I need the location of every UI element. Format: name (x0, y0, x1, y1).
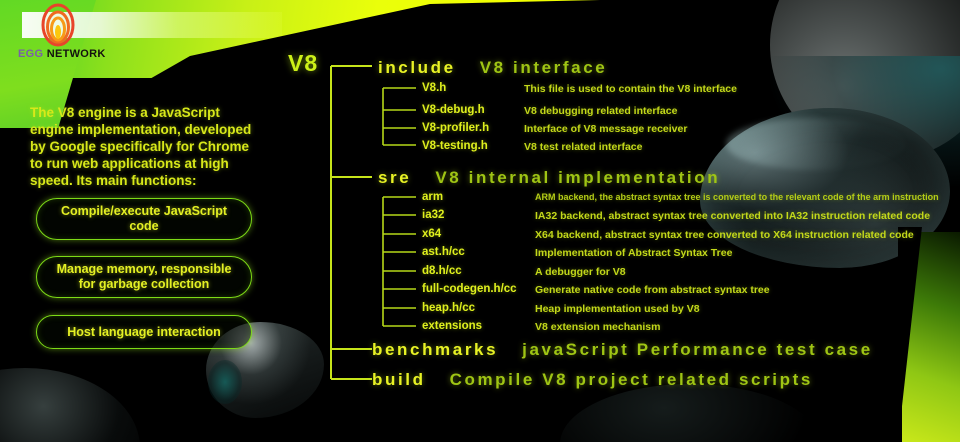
tree-node-sre-value: V8 internal implementation (435, 168, 720, 187)
tree-root-label: V8 (288, 50, 318, 77)
tree-leaf-name-d8[interactable]: d8.h/cc (422, 265, 462, 277)
brand-name: EGG NETWORK (18, 48, 106, 60)
tree-node-build[interactable]: buildCompile V8 project related scripts (372, 370, 813, 390)
tree-leaf-name-ast[interactable]: ast.h/cc (422, 246, 465, 258)
tree-node-benchmarks-value: javaScript Performance test case (522, 340, 873, 359)
tree-node-build-key: build (372, 370, 426, 389)
tree-leaf-desc-v8-debug-h: V8 debugging related interface (524, 105, 677, 117)
function-pill-host-language[interactable]: Host language interaction (36, 315, 252, 349)
egg-signal-icon (40, 3, 76, 47)
tree-leaf-name-v8-debug-h[interactable]: V8-debug.h (422, 104, 485, 116)
decorative-blob-teal-highlight (208, 360, 242, 404)
tree-leaf-name-v8-profiler-h[interactable]: V8-profiler.h (422, 122, 489, 134)
tree-leaf-name-x64[interactable]: x64 (422, 228, 441, 240)
brand-name-egg: EGG (18, 48, 43, 60)
slide-canvas: EGG NETWORK The V8 engine is a JavaScrip… (0, 0, 960, 442)
tree-leaf-desc-full-codegen: Generate native code from abstract synta… (535, 284, 770, 296)
tree-leaf-name-arm[interactable]: arm (422, 191, 443, 203)
tree-leaf-name-extensions[interactable]: extensions (422, 320, 482, 332)
tree-leaf-desc-v8-h: This file is used to contain the V8 inte… (524, 83, 737, 95)
tree-leaf-name-v8-h[interactable]: V8.h (422, 82, 446, 94)
tree-node-sre[interactable]: sreV8 internal implementation (378, 168, 720, 188)
decorative-blob-sheen (726, 118, 906, 170)
tree-leaf-desc-d8: A debugger for V8 (535, 266, 626, 278)
brand-logo: EGG NETWORK (10, 2, 130, 62)
tree-node-build-value: Compile V8 project related scripts (450, 370, 813, 389)
tree-node-sre-key: sre (378, 168, 411, 187)
brand-name-network: NETWORK (47, 48, 106, 60)
tree-node-include-key: include (378, 58, 456, 77)
tree-leaf-name-v8-testing-h[interactable]: V8-testing.h (422, 140, 488, 152)
tree-leaf-desc-v8-profiler-h: Interface of V8 message receiver (524, 123, 687, 135)
tree-node-include-value: V8 interface (480, 58, 608, 77)
description-paragraph: The V8 engine is a JavaScript engine imp… (30, 104, 265, 189)
tree-node-benchmarks[interactable]: benchmarksjavaScript Performance test ca… (372, 340, 873, 360)
tree-leaf-desc-extensions: V8 extension mechanism (535, 321, 660, 333)
tree-node-benchmarks-key: benchmarks (372, 340, 498, 359)
tree-leaf-desc-ast: Implementation of Abstract Syntax Tree (535, 247, 732, 259)
tree-leaf-desc-arm: ARM backend, the abstract syntax tree is… (535, 192, 939, 202)
tree-leaf-desc-ia32: IA32 backend, abstract syntax tree conve… (535, 210, 930, 222)
function-pill-compile-execute[interactable]: Compile/execute JavaScript code (36, 198, 252, 240)
decorative-glossy-blob-bottom-right (560, 384, 820, 442)
tree-leaf-name-ia32[interactable]: ia32 (422, 209, 444, 221)
tree-leaf-desc-v8-testing-h: V8 test related interface (524, 141, 642, 153)
tree-leaf-desc-x64: X64 backend, abstract syntax tree conver… (535, 229, 914, 241)
tree-leaf-name-heap[interactable]: heap.h/cc (422, 302, 475, 314)
tree-leaf-name-full-codegen[interactable]: full-codegen.h/cc (422, 283, 517, 295)
tree-node-include[interactable]: includeV8 interface (378, 58, 607, 78)
tree-leaf-desc-heap: Heap implementation used by V8 (535, 303, 700, 315)
function-pill-manage-memory[interactable]: Manage memory, responsible for garbage c… (36, 256, 252, 298)
